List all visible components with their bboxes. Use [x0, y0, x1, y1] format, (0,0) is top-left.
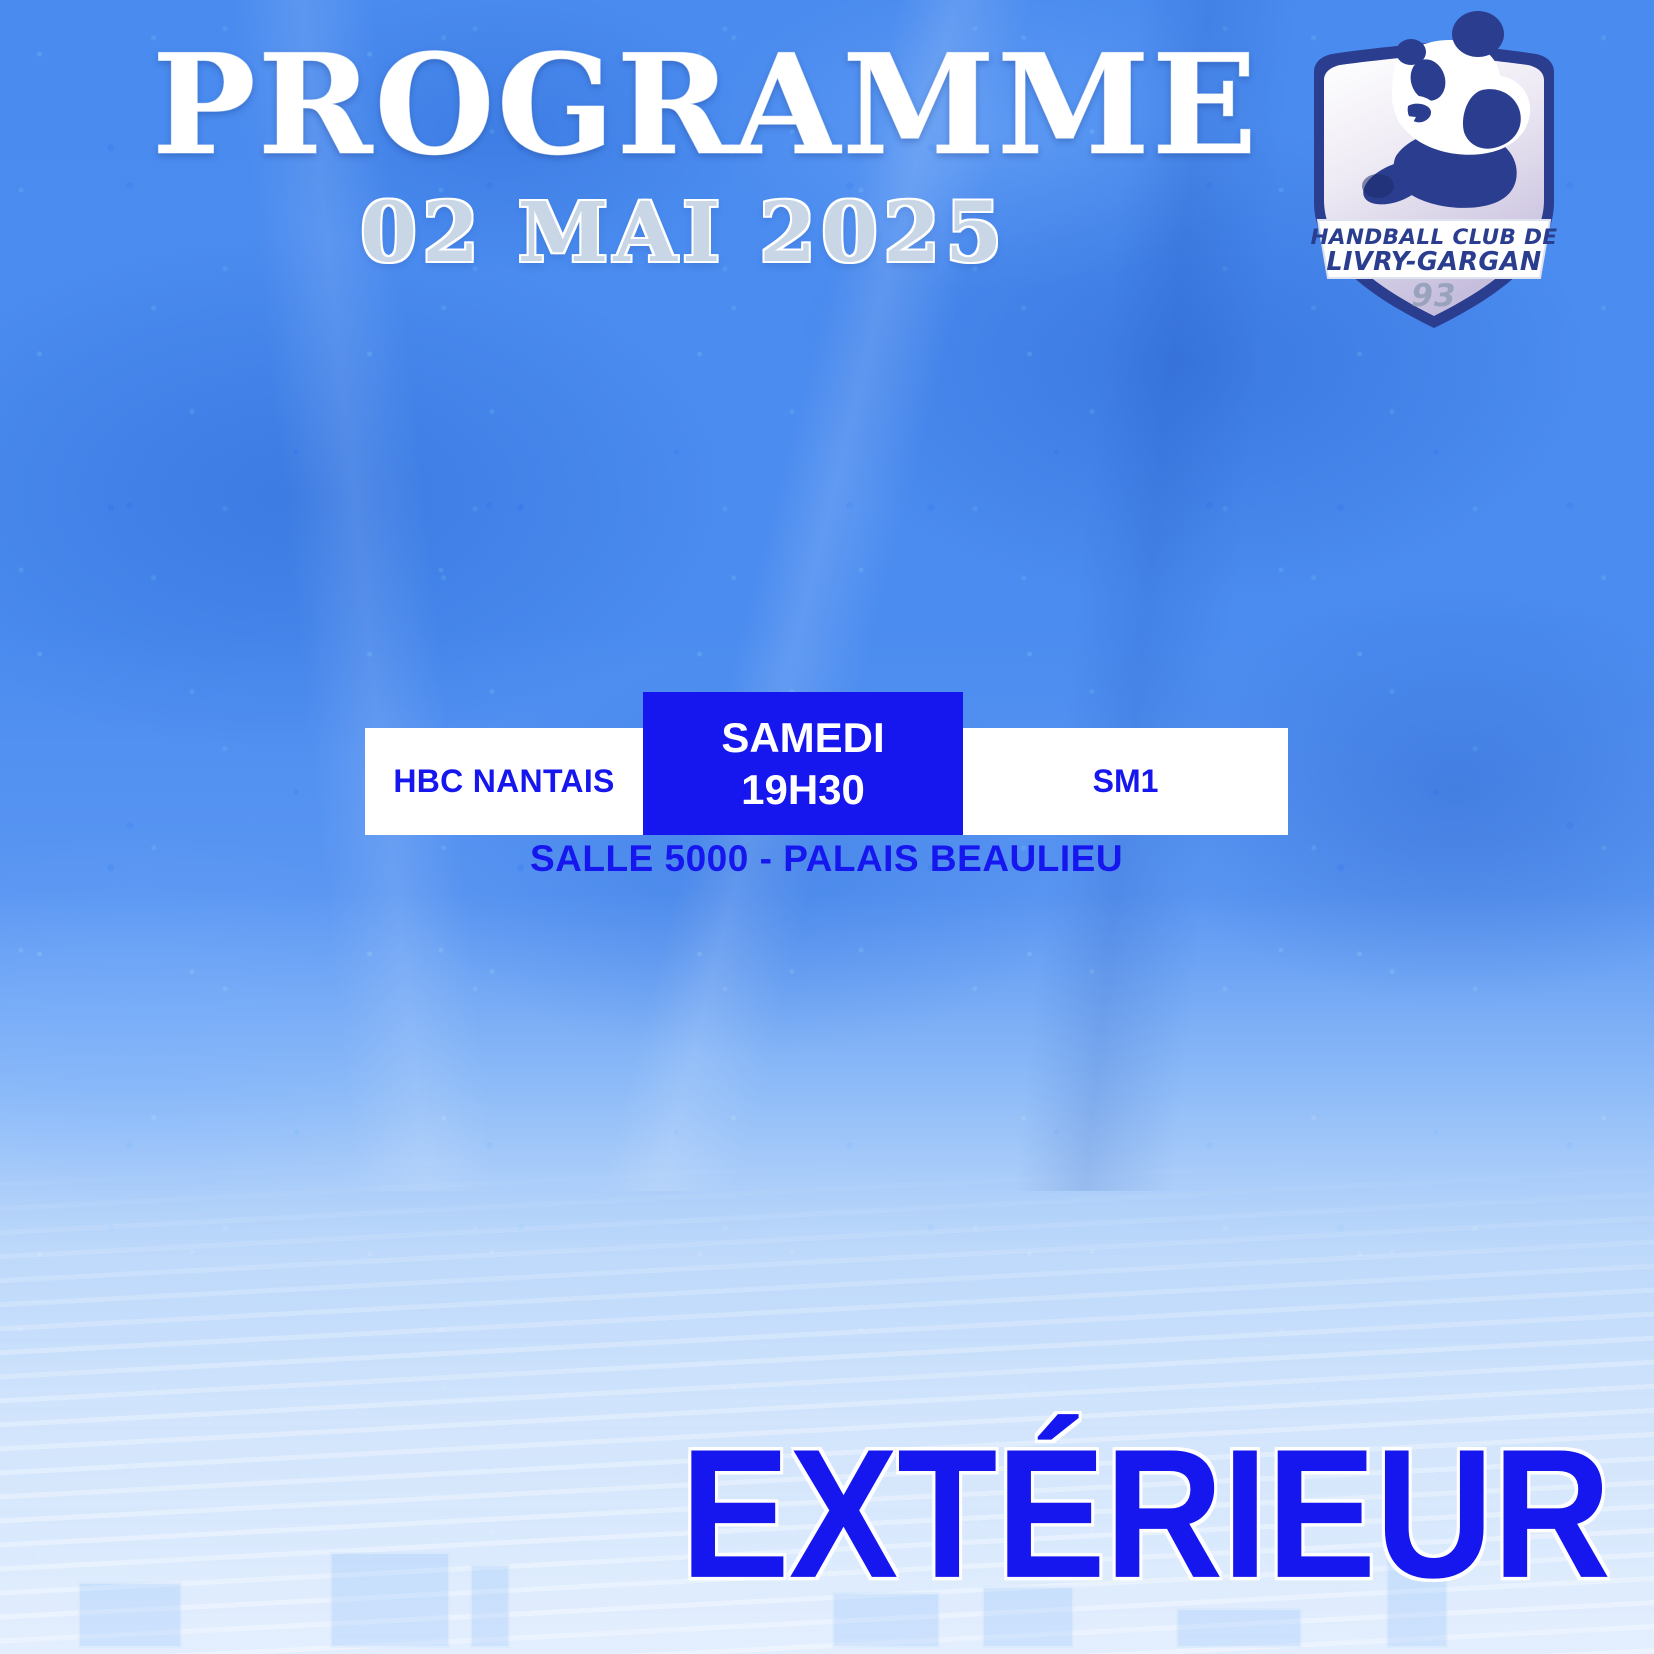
- match-time: 19H30: [741, 764, 865, 815]
- match-row: HBC NANTAIS SAMEDI 19H30 SM1: [365, 692, 1288, 835]
- programme-poster: PROGRAMME 02 MAI 2025: [0, 0, 1654, 1654]
- crest-club-line2: LIVRY-GARGAN: [1326, 247, 1541, 277]
- match-datetime: SAMEDI 19H30: [643, 692, 963, 835]
- match-location-type: EXTÉRIEUR: [680, 1422, 1610, 1606]
- club-logo: HANDBALL CLUB DE LIVRY-GARGAN 93: [1300, 6, 1568, 336]
- page-title: PROGRAMME: [152, 36, 1259, 174]
- crest-department: 93: [1411, 278, 1456, 314]
- match-opponent: HBC NANTAIS: [365, 728, 643, 835]
- poster-date: 02 MAI 2025: [360, 192, 1007, 274]
- panda-paw: [1362, 174, 1394, 198]
- panda-ear-right: [1452, 11, 1504, 57]
- match-day: SAMEDI: [721, 712, 884, 763]
- match-venue: SALLE 5000 - PALAIS BEAULIEU: [365, 838, 1288, 880]
- match-team: SM1: [963, 728, 1288, 835]
